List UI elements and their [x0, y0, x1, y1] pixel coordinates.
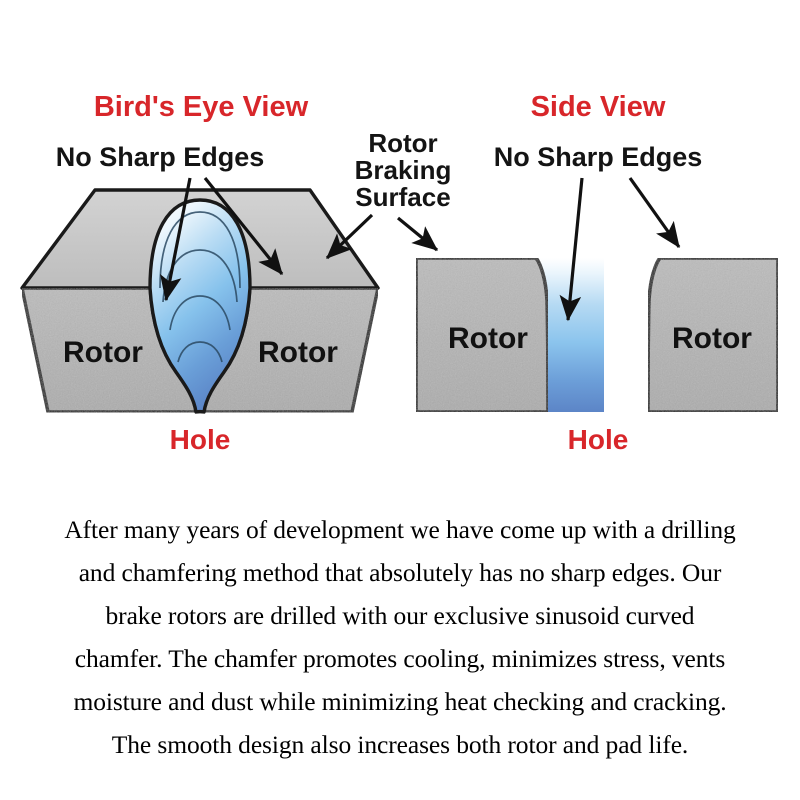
caption-line: chamfer. The chamfer promotes cooling, m… [8, 637, 792, 680]
rbs-line-2: Braking [355, 155, 452, 185]
birds-eye-hole-label: Hole [170, 424, 231, 455]
birds-eye-title: Bird's Eye View [94, 91, 309, 123]
caption-line: moisture and dust while minimizing heat … [8, 680, 792, 723]
rotor-chamfer-figure: Bird's Eye View No Sharp Edges Rotor Bra… [0, 0, 800, 500]
side-view-rotor-left-label: Rotor [448, 322, 528, 355]
arrow-rotor-braking-surface-right [398, 218, 437, 250]
side-view-title: Side View [531, 91, 666, 123]
side-view-rotor-right-label: Rotor [672, 322, 752, 355]
side-view-hole-label: Hole [568, 424, 629, 455]
rbs-line-3: Surface [355, 182, 450, 212]
arrow-side-no-sharp-edges-right [630, 178, 679, 247]
birds-eye-view-group: Bird's Eye View No Sharp Edges Rotor Bra… [22, 91, 451, 455]
side-view-no-sharp-edges-label: No Sharp Edges [494, 142, 703, 172]
rbs-line-1: Rotor [368, 128, 437, 158]
diagram-page: Bird's Eye View No Sharp Edges Rotor Bra… [0, 0, 800, 800]
caption-line: and chamfering method that absolutely ha… [8, 551, 792, 594]
birds-eye-no-sharp-edges-label: No Sharp Edges [56, 142, 265, 172]
birds-eye-rotor-right-label: Rotor [258, 336, 338, 369]
rotor-braking-surface-label: Rotor Braking Surface [355, 128, 452, 212]
caption-line: The smooth design also increases both ro… [8, 723, 792, 766]
caption-paragraph: After many years of development we have … [0, 508, 800, 766]
side-view-group: Side View No Sharp Edges Rotor Rotor Hol… [398, 91, 778, 455]
caption-line: After many years of development we have … [8, 508, 792, 551]
caption-line: brake rotors are drilled with our exclus… [8, 594, 792, 637]
birds-eye-rotor-left-label: Rotor [63, 336, 143, 369]
